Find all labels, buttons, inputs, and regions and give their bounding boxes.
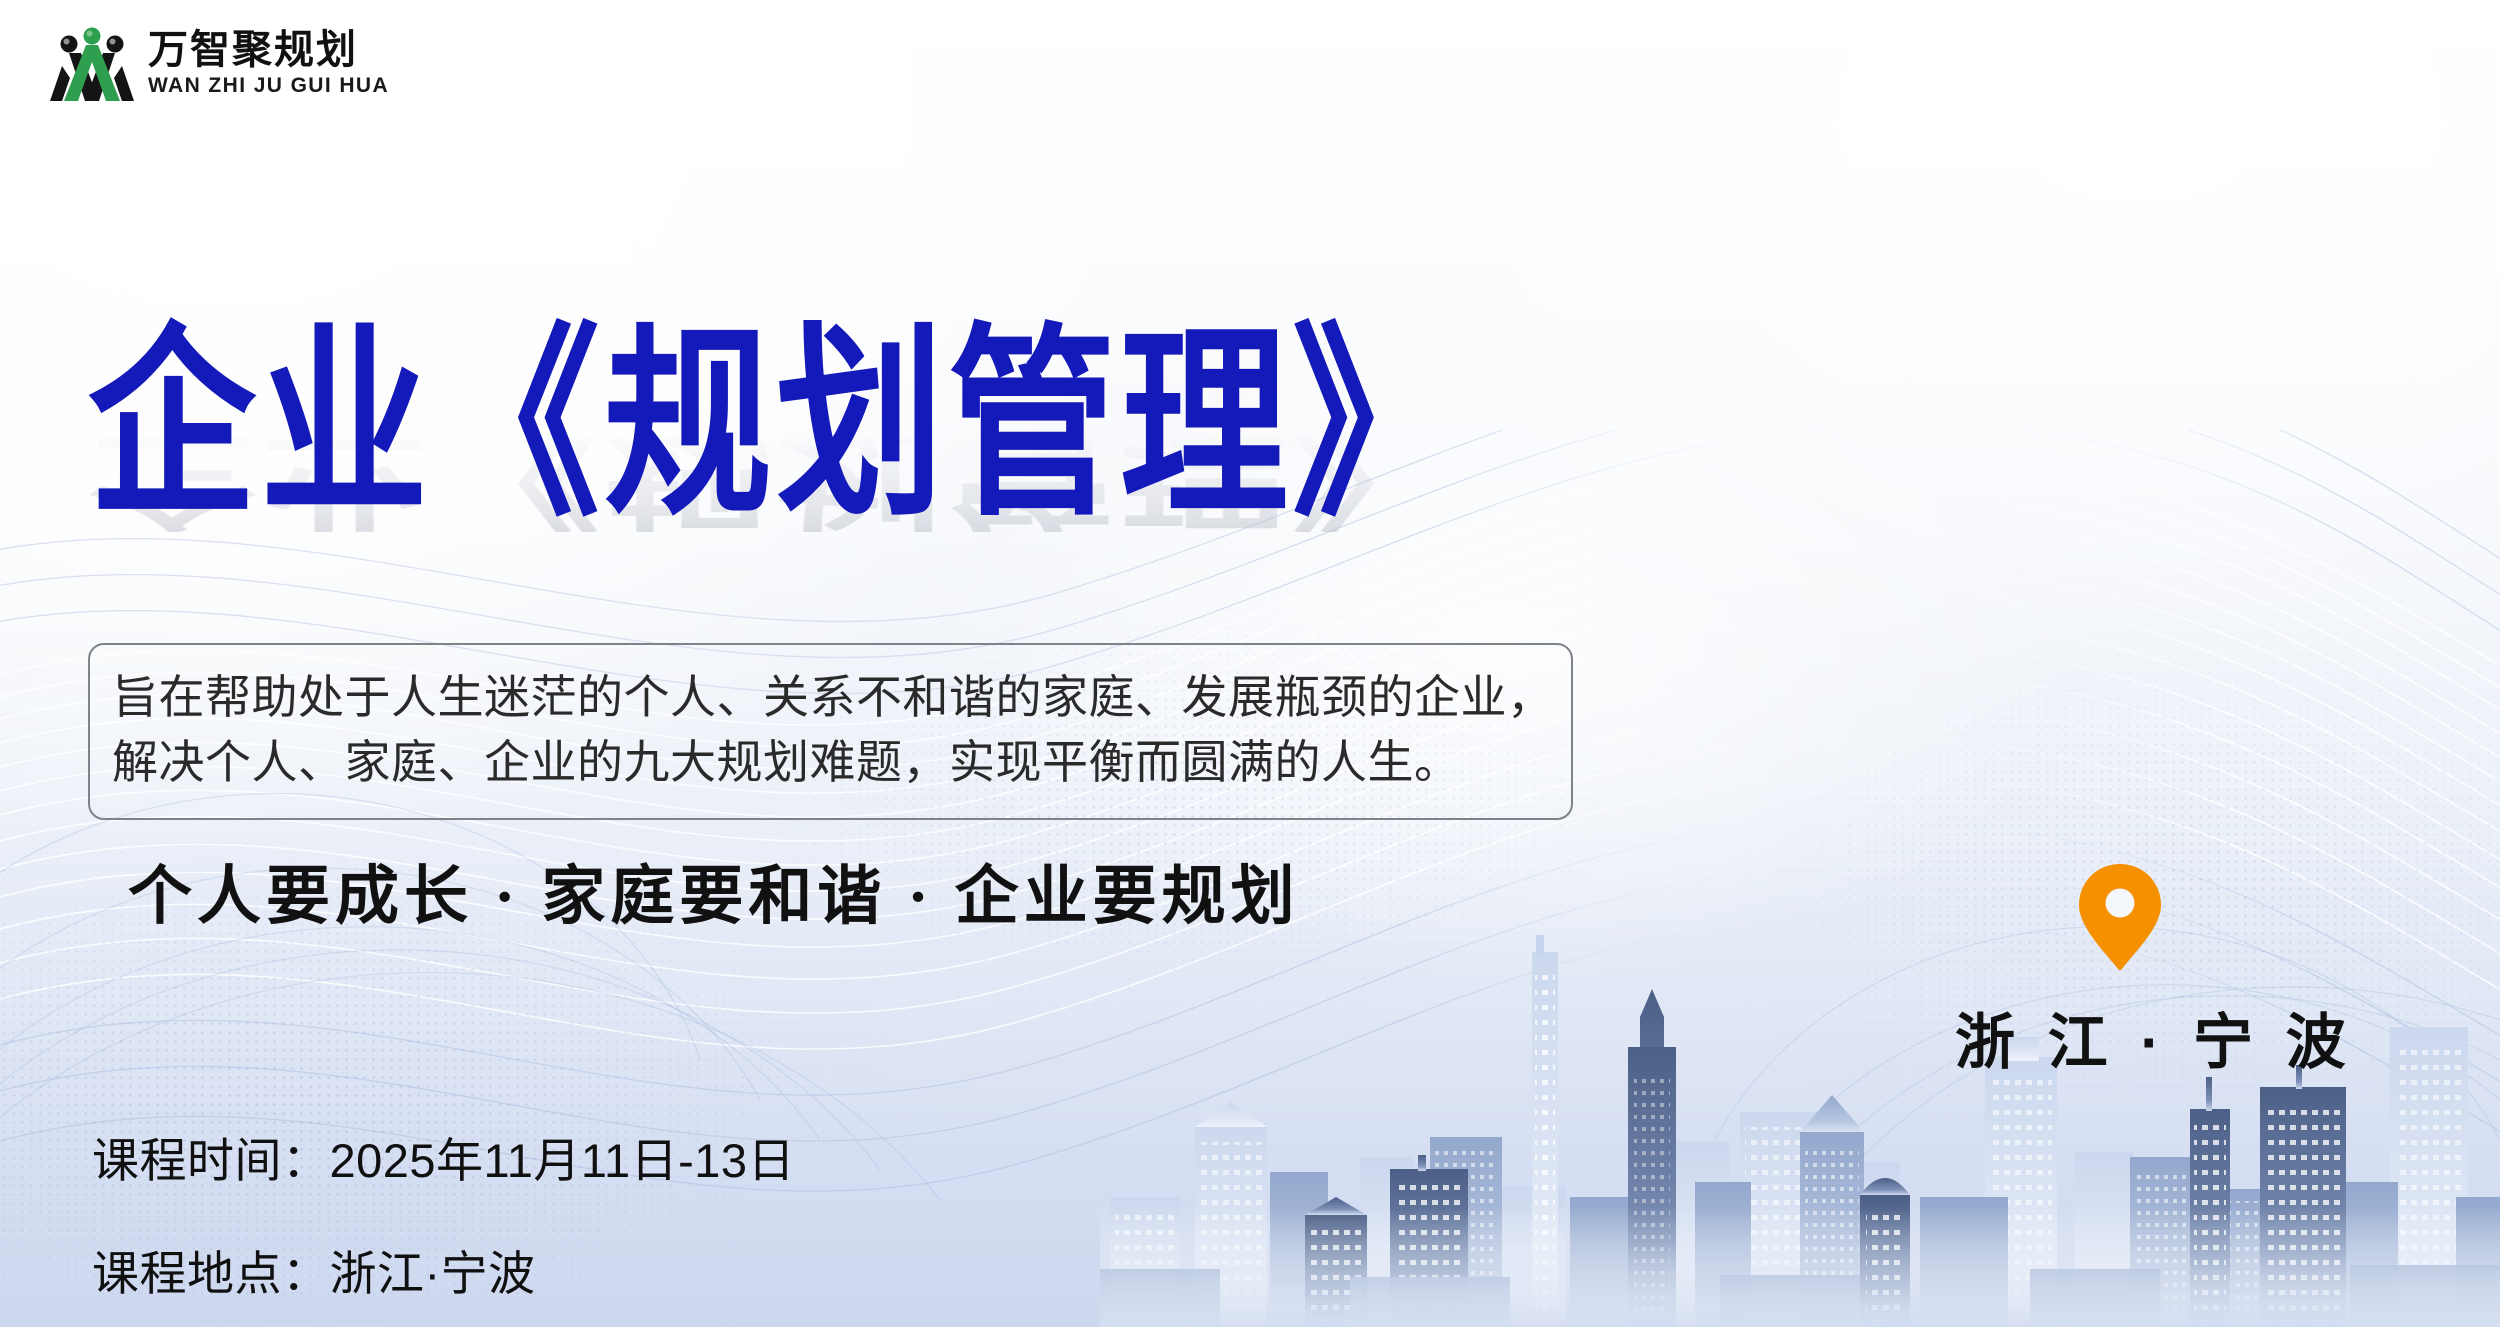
- course-time: 课程时间：2025年11月11日-13日: [92, 1122, 795, 1191]
- brand-logo[interactable]: 万智聚规划 WAN ZHI JU GUI HUA: [50, 22, 389, 104]
- location-label: 浙 江 · 宁 波: [1955, 994, 2285, 1081]
- city-skyline-graphic: [1100, 897, 2500, 1327]
- course-info: 课程时间：2025年11月11日-13日 课程地点：浙江·宁波: [92, 1122, 795, 1304]
- brand-name-cn: 万智聚规划: [148, 30, 389, 70]
- description-line-2: 解决个人、家庭、企业的九大规划难题，实现平衡而圆满的人生。: [112, 730, 1549, 795]
- hero-title-block: 企业《规划管理》 企业《规划管理》: [88, 322, 1688, 490]
- three-people-logo-icon: [50, 22, 134, 104]
- page-title: 企业《规划管理》: [88, 322, 1688, 527]
- poster-canvas: 万智聚规划 WAN ZHI JU GUI HUA 企业《规划管理》 企业《规划管…: [0, 0, 2500, 1327]
- description-box: 旨在帮助处于人生迷茫的个人、关系不和谐的家庭、发展瓶颈的企业， 解决个人、家庭、…: [88, 643, 1573, 820]
- brand-name-en: WAN ZHI JU GUI HUA: [148, 75, 389, 96]
- location-marker: 浙 江 · 宁 波: [1955, 862, 2285, 1081]
- map-pin-icon: [2077, 862, 2163, 972]
- tagline: 个人要成长 · 家庭要和谐 · 企业要规划: [128, 845, 1300, 937]
- course-place: 课程地点：浙江·宁波: [92, 1235, 795, 1304]
- description-line-1: 旨在帮助处于人生迷茫的个人、关系不和谐的家庭、发展瓶颈的企业，: [112, 665, 1549, 730]
